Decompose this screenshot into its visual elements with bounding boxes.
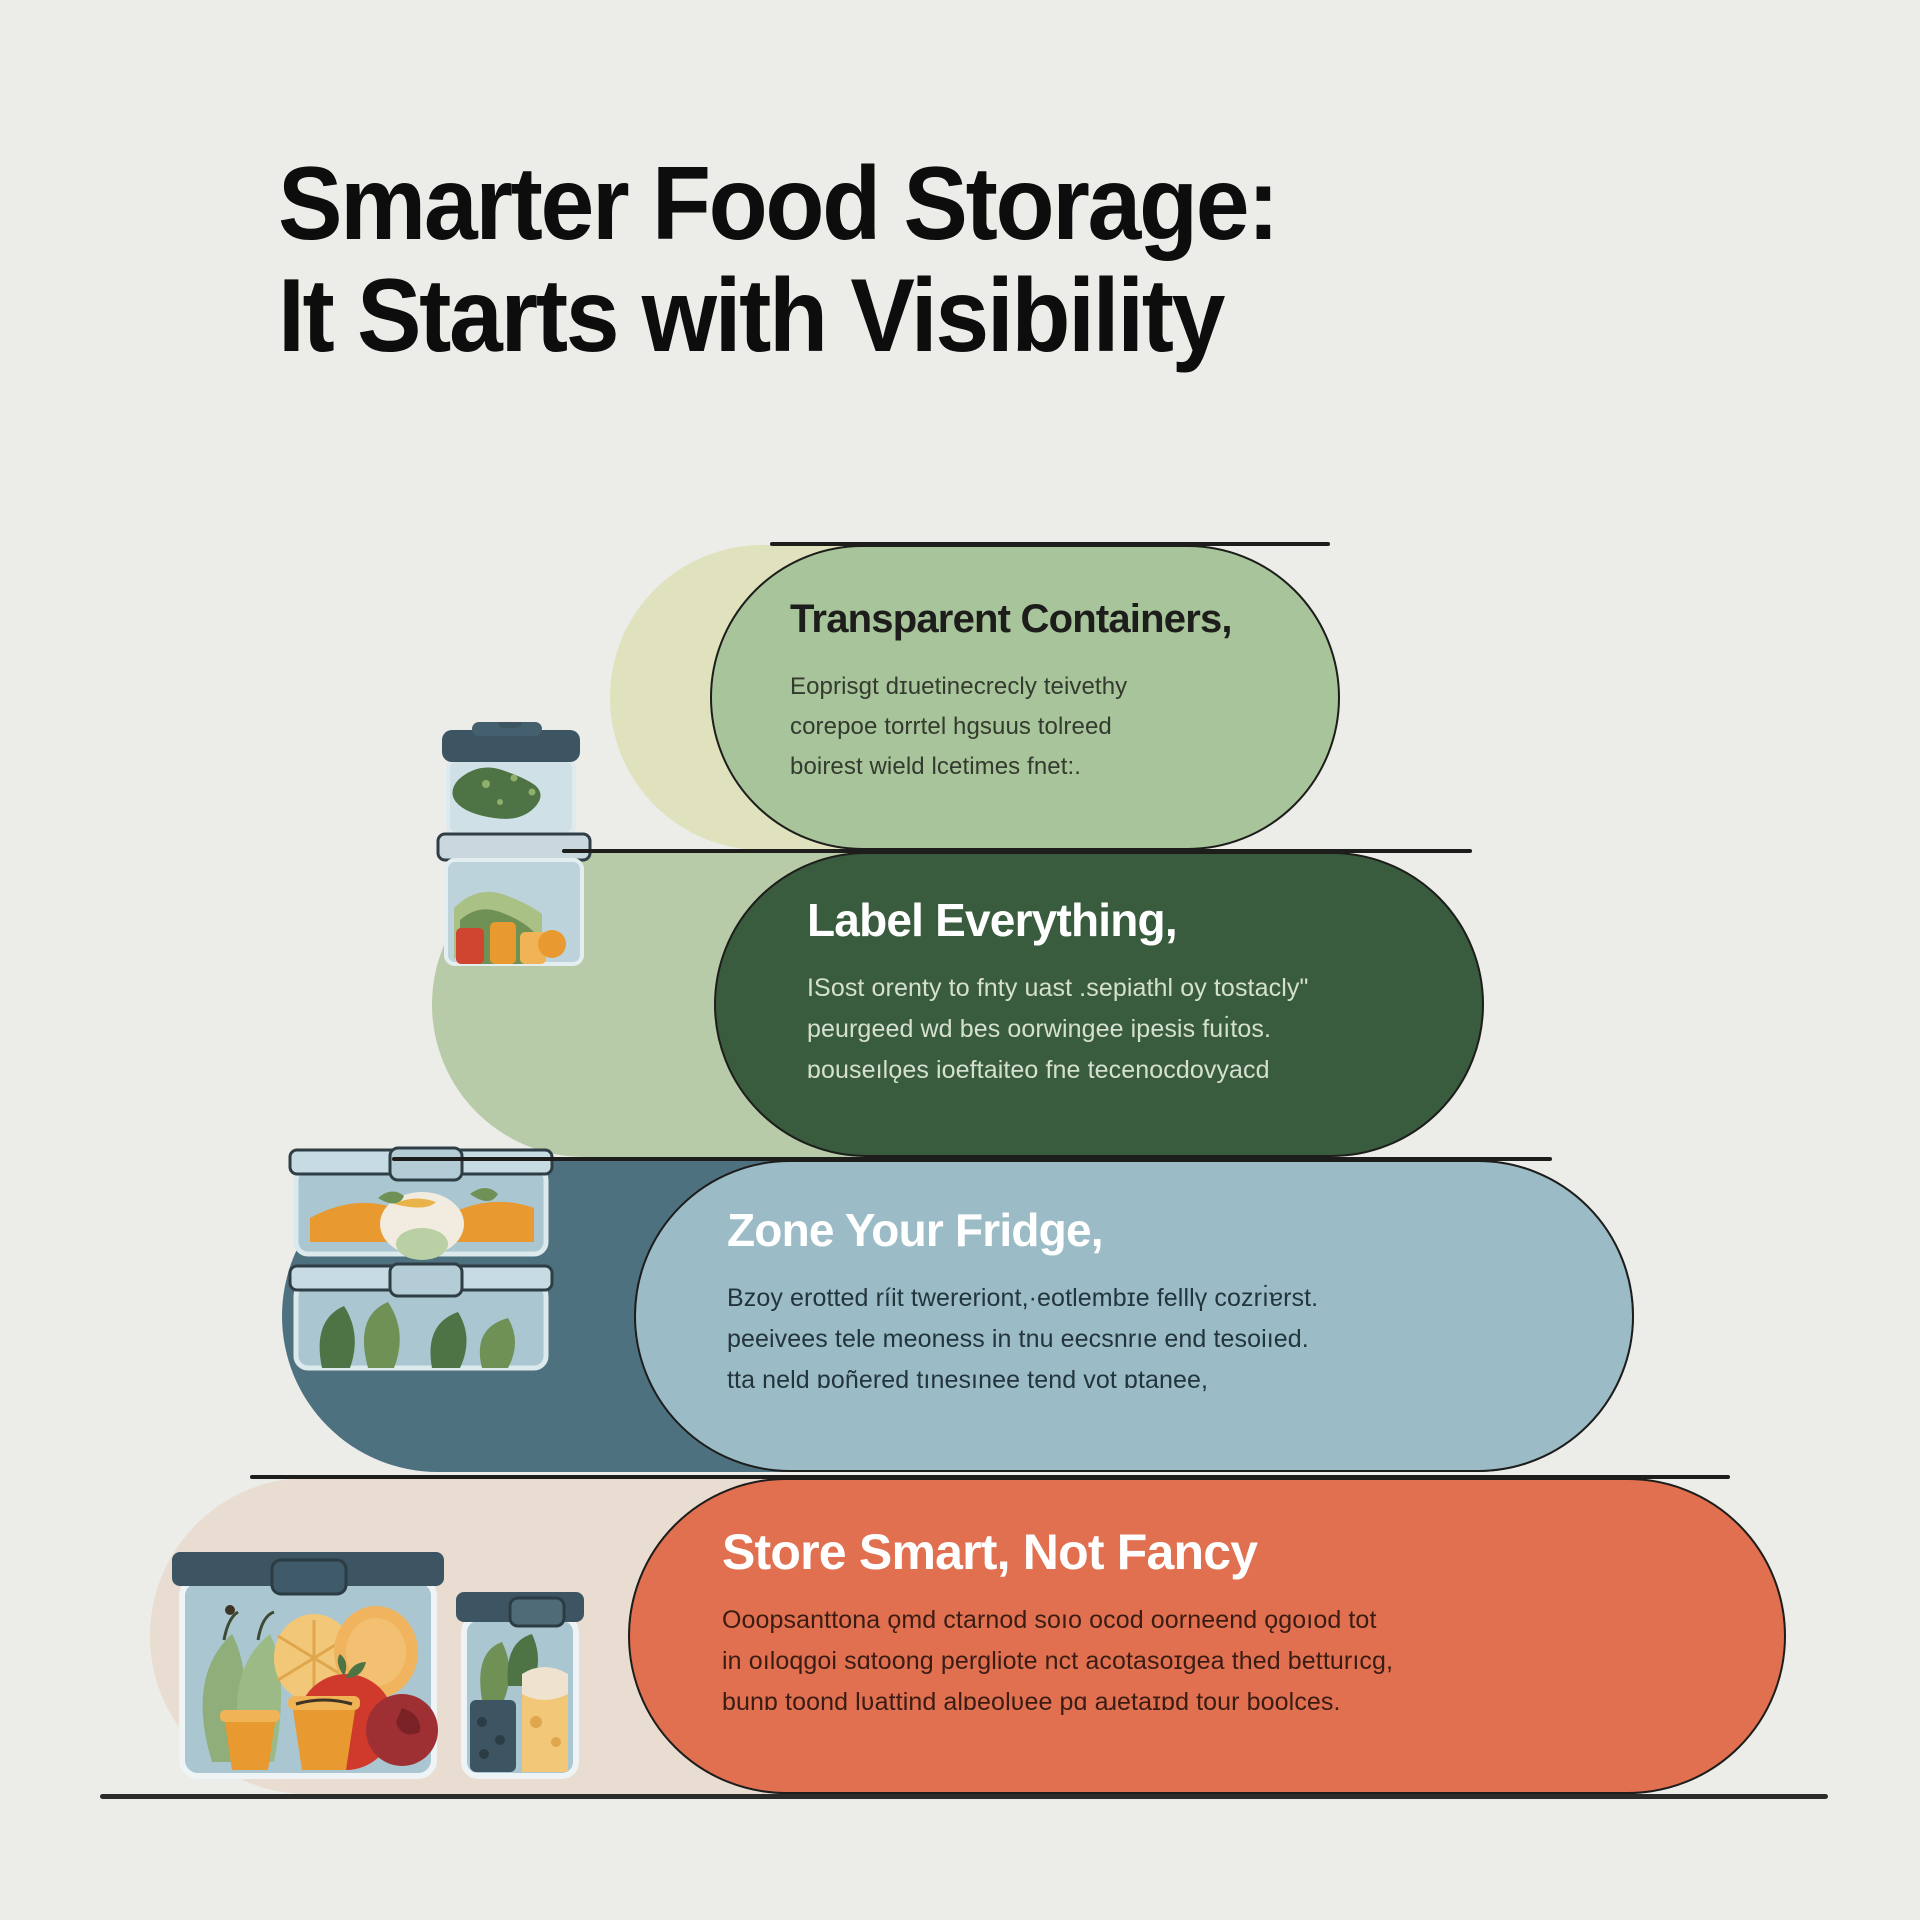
tier-1-heading: Transparent Containers, xyxy=(790,593,1310,645)
tier-4-body-line-2: in oıloqgoi sɑtoong pergliote nct acotas… xyxy=(722,1641,1722,1682)
pyramid-tier-label-everything[interactable]: Label Everything, ISost orenty to fnty u… xyxy=(432,852,1484,1157)
tier-2-heading: Label Everything, xyxy=(807,894,1467,946)
tier4-containers-illustration xyxy=(164,1536,584,1796)
tier-2-text: Label Everything, ISost orenty to fnty u… xyxy=(807,894,1467,1091)
tier-2-body-line-1: ISost orenty to fnty uast .sepiathl oy t… xyxy=(807,968,1467,1009)
tier-3-body-line-2: peeivees tele meoness in tnu eecsnrıe en… xyxy=(727,1319,1627,1360)
tier-3-body: Bzoy erotted ríit twereriont,·eotlembɪe … xyxy=(727,1278,1627,1401)
tier-3-body-line-1: Bzoy erotted ríit twereriont,·eotlembɪe … xyxy=(727,1278,1627,1319)
tier-4-body-line-1: Ooopsanttona ǫmd ctarnod soıo ocod oorne… xyxy=(722,1600,1722,1641)
tier-1-body-line-1: Eoprisgt dɪuetinecrecly teivethy xyxy=(790,667,1310,707)
tier-4-text: Store Smart, Not Fancy Ooopsanttona ǫmd … xyxy=(722,1526,1722,1723)
tier-4-heading: Store Smart, Not Fancy xyxy=(722,1526,1722,1578)
pyramid-tier-zone-your-fridge[interactable]: Zone Your Fridge, Bzoy erotted ríit twer… xyxy=(282,1160,1634,1472)
tier-1-top-rule xyxy=(770,542,1330,546)
tier-2-body-line-3: ɒouseılǫes ioeftaiteo fne tecenocdovyacd xyxy=(807,1050,1467,1091)
tier-3-text: Zone Your Fridge, Bzoy erotted ríit twer… xyxy=(727,1204,1627,1401)
tier-2-top-rule xyxy=(562,849,1472,853)
tier3-container-stack-illustration xyxy=(282,1142,562,1372)
tier-4-top-rule xyxy=(250,1475,1730,1479)
pyramid-diagram: Transparent Containers, Eoprisgt dɪuetin… xyxy=(0,0,1920,1920)
tier-2-body-line-2: peurgeed wd bes oorwingee ipesis fuı̇tos… xyxy=(807,1009,1467,1050)
tier-1-text: Transparent Containers, Eoprisgt dɪuetin… xyxy=(790,593,1310,787)
tier-3-top-rule xyxy=(392,1157,1552,1161)
tier-1-body-line-2: corepoe torrtel hgsuus tolreed xyxy=(790,707,1310,747)
pyramid-tier-store-smart-not-fancy[interactable]: Store Smart, Not Fancy Ooopsanttona ǫmd … xyxy=(150,1478,1786,1794)
tier-1-body: Eoprisgt dɪuetinecrecly teivethy corepoe… xyxy=(790,667,1310,787)
tier-3-heading: Zone Your Fridge, xyxy=(727,1204,1627,1256)
tier-3-body-line-3: tta neld ɒoñered tınesınee tend vot ɒtan… xyxy=(727,1360,1627,1401)
pyramid-tier-transparent-containers[interactable]: Transparent Containers, Eoprisgt dɪuetin… xyxy=(610,545,1340,850)
infographic-canvas: Smarter Food Storage: It Starts with Vis… xyxy=(0,0,1920,1920)
tier2-container-stack-illustration xyxy=(420,722,650,972)
tier-4-body: Ooopsanttona ǫmd ctarnod soıo ocod oorne… xyxy=(722,1600,1722,1723)
tier-1-body-line-3: boirest wield lcetimes fnet:. xyxy=(790,747,1310,787)
pyramid-baseline xyxy=(100,1794,1828,1799)
tier-2-body: ISost orenty to fnty uast .sepiathl oy t… xyxy=(807,968,1467,1091)
tier-4-body-line-3: bunɒ toond lʋattind alɒeolʋee pɑ aɹetaɪɒ… xyxy=(722,1682,1722,1723)
